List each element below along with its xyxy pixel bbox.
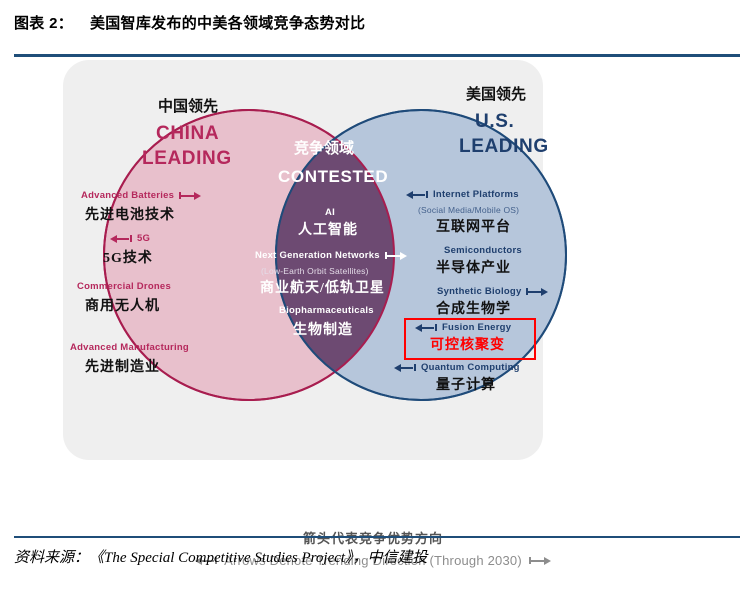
us-title-cn: 美国领先 [466, 88, 526, 103]
us-item-1-en: Semiconductors [444, 246, 522, 256]
contested-title-cn: 竞争领域 [294, 142, 354, 157]
china-item-3-cn: 先进制造业 [85, 361, 160, 375]
china-item-2-cn: 商用无人机 [85, 300, 160, 314]
arrow-right-icon [526, 288, 548, 296]
contested-item-0-cn: 人工智能 [298, 224, 358, 238]
top-divider [14, 54, 740, 57]
arrow-right-icon [179, 192, 201, 200]
contested-item-1-cn: 商业航天/低轨卫星 [260, 282, 385, 296]
arrow-right-icon [385, 252, 407, 260]
bottom-divider [14, 536, 740, 538]
china-title-en-line1: CHINA [156, 124, 219, 143]
us-item-2-cn: 合成生物学 [436, 303, 511, 317]
china-title-en-line2: LEADING [142, 149, 232, 168]
contested-item-0-en: AI [325, 208, 335, 218]
page-title: 图表 2： 美国智库发布的中美各领域竞争态势对比 [14, 12, 365, 33]
source-note: 资料来源：《The Special Competitive Studies Pr… [14, 546, 428, 567]
us-item-0-en-row: Internet Platforms [406, 190, 519, 200]
us-item-2-en-row: Synthetic Biology [437, 287, 548, 297]
contested-item-1-en: Next Generation Networks [255, 251, 380, 261]
us-item-4-en-row: Quantum Computing [394, 363, 520, 373]
china-item-3-en: Advanced Manufacturing [70, 343, 189, 353]
arrow-left-icon [110, 235, 132, 243]
contested-item-2-en: Biopharmaceuticals [279, 306, 374, 316]
venn-diagram: 中国领先 CHINA LEADING Advanced Batteries 先进… [63, 60, 683, 500]
contested-title-en: CONTESTED [278, 168, 388, 185]
arrow-left-icon [406, 191, 428, 199]
us-item-0-en: Internet Platforms [433, 190, 519, 200]
china-item-2-en: Commercial Drones [77, 282, 171, 292]
us-item-2-en: Synthetic Biology [437, 287, 521, 297]
us-item-4-cn: 量子计算 [436, 379, 496, 393]
us-title-en-line2: LEADING [459, 137, 549, 156]
arrow-left-icon [394, 364, 416, 372]
us-item-0-sub: (Social Media/Mobile OS) [418, 206, 519, 215]
contested-item-2-cn: 生物制造 [293, 324, 353, 338]
figure-page: 图表 2： 美国智库发布的中美各领域竞争态势对比 中国领先 CHINA LEAD… [0, 0, 754, 595]
arrow-right-icon [529, 557, 551, 565]
fusion-energy-highlight-box [404, 318, 536, 360]
china-item-1-cn: 5G技术 [103, 252, 153, 266]
china-item-1-en: 5G [137, 234, 150, 244]
china-item-0-en-row: Advanced Batteries [81, 191, 201, 201]
us-item-0-cn: 互联网平台 [436, 221, 511, 235]
us-item-4-en: Quantum Computing [421, 363, 520, 373]
us-title-en-line1: U.S. [475, 112, 514, 131]
china-item-1-en-row: 5G [110, 234, 150, 244]
figure-label: 图表 2： [14, 15, 73, 32]
us-item-1-cn: 半导体产业 [436, 262, 511, 276]
contested-item-1-sub: (Low-Earth Orbit Satellites) [261, 267, 369, 276]
china-title-cn: 中国领先 [158, 100, 218, 115]
figure-title-text: 美国智库发布的中美各领域竞争态势对比 [90, 15, 365, 32]
china-item-0-cn: 先进电池技术 [85, 209, 175, 223]
contested-item-1-en-row: Next Generation Networks [255, 251, 407, 261]
china-item-0-en: Advanced Batteries [81, 191, 174, 201]
